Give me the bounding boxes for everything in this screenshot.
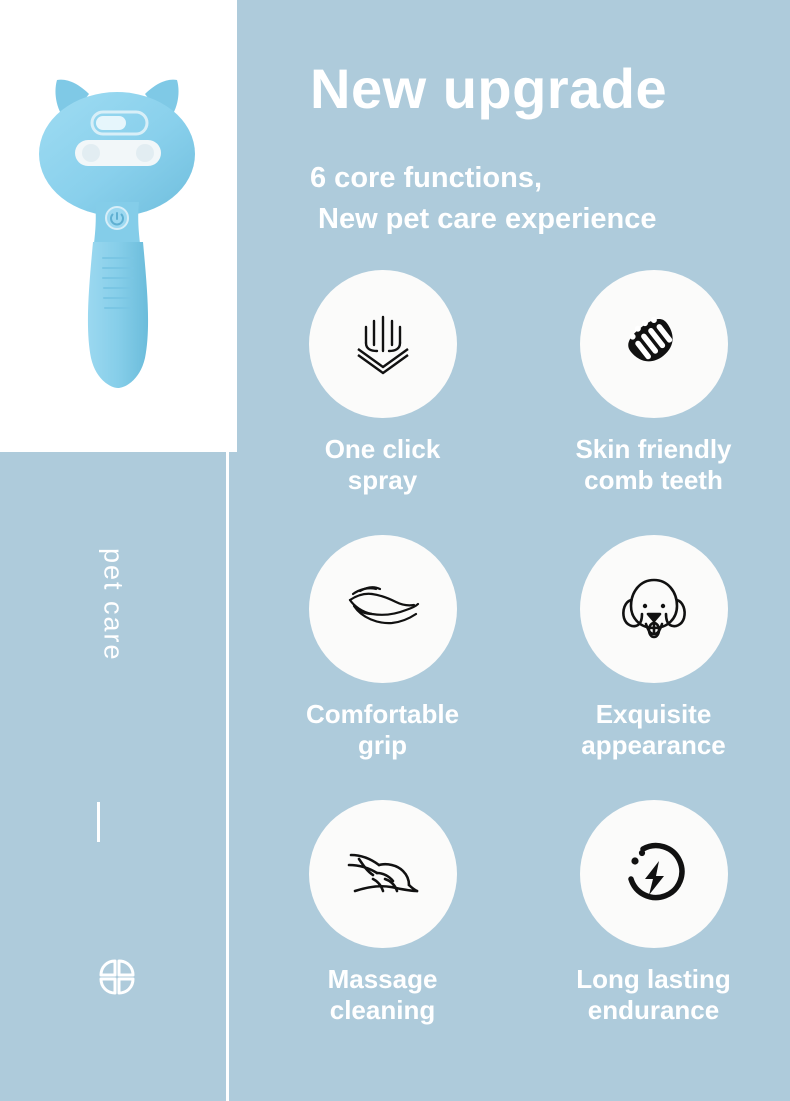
icon-bubble [580, 270, 728, 418]
vertical-tick-divider [97, 802, 100, 842]
dog-face-icon [614, 570, 694, 648]
comb-icon [615, 305, 693, 383]
pet-grooming-brush [19, 36, 219, 416]
subtitle-line-1: 6 core functions, [310, 162, 542, 194]
lightning-battery-icon [615, 835, 693, 913]
massage-hand-icon [339, 835, 427, 913]
vertical-divider-line [226, 452, 229, 1101]
feature-massage-cleaning[interactable]: Massage cleaning [247, 800, 518, 1065]
icon-bubble [309, 800, 457, 948]
infographic-page: pet care New upgrade 6 core functions, N… [0, 0, 790, 1101]
icon-bubble [580, 800, 728, 948]
feature-skin-friendly-comb-teeth[interactable]: Skin friendly comb teeth [518, 270, 789, 535]
feature-label: Comfortable grip [306, 699, 459, 761]
feature-long-lasting-endurance[interactable]: Long lasting endurance [518, 800, 789, 1065]
subtitle-line-2: New pet care experience [310, 199, 657, 240]
feature-label: Massage cleaning [328, 964, 438, 1026]
feature-row-1: One click spray [247, 270, 790, 535]
feature-one-click-spray[interactable]: One click spray [247, 270, 518, 535]
icon-bubble [309, 535, 457, 683]
feature-row-3: Massage cleaning Long lasting endurance [247, 800, 790, 1065]
page-subtitle: 6 core functions, New pet care experienc… [310, 158, 657, 240]
icon-bubble [309, 270, 457, 418]
spray-icon [344, 305, 422, 383]
feature-label: One click spray [325, 434, 441, 496]
page-title: New upgrade [310, 60, 667, 119]
feature-label: Long lasting endurance [576, 964, 731, 1026]
feature-exquisite-appearance[interactable]: Exquisite appearance [518, 535, 789, 800]
product-photo-panel [0, 0, 237, 452]
feature-row-2: Comfortable grip [247, 535, 790, 800]
four-petal-logo [97, 957, 137, 997]
feature-label: Exquisite appearance [581, 699, 726, 761]
vertical-brand-text: pet care [0, 548, 226, 669]
open-palm-icon [340, 570, 426, 648]
icon-bubble [580, 535, 728, 683]
feature-grid: One click spray [247, 270, 790, 1065]
feature-comfortable-grip[interactable]: Comfortable grip [247, 535, 518, 800]
feature-label: Skin friendly comb teeth [575, 434, 731, 496]
left-sidebar: pet care [0, 452, 226, 1101]
